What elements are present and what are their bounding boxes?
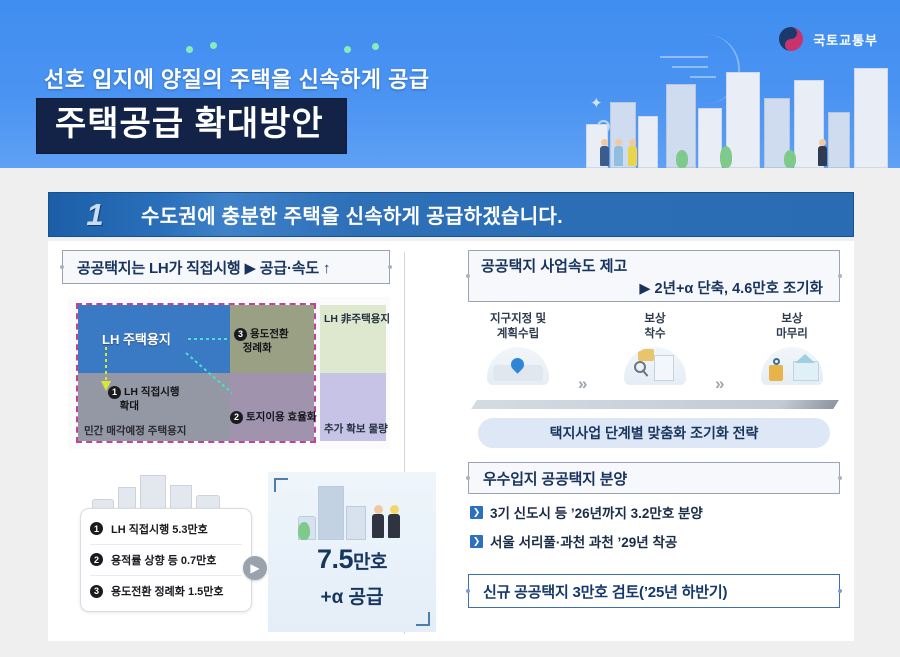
person-figure [600, 139, 609, 166]
step-label: 지구지정 및 계획수립 [470, 312, 566, 342]
right-heading2-text: 우수입지 공공택지 분양 [483, 468, 627, 489]
quadrant-diagram: LH 주택용지 민간 매각예정 주택용지 LH 非주택용지 추가 확보 물량 1… [68, 297, 390, 449]
result-subtext: +α 공급 [268, 582, 436, 609]
result-box: 7.5만호 +α 공급 [268, 472, 436, 632]
list-item: 1 LH 직접시행 5.3만호 [90, 521, 242, 537]
arrow-right-icon: ▶ [243, 556, 267, 580]
step-label: 보상 착수 [607, 312, 703, 342]
person-figure [628, 139, 637, 166]
timeline-base [471, 400, 839, 409]
step-separator-icon: » [578, 374, 587, 394]
result-value: 7.5만호 [268, 544, 436, 575]
right-bullet-list: ❯ 3기 신도시 등 ’26년까지 3.2만호 분양 ❯ 서울 서리풀·과천 과… [470, 502, 850, 560]
result-unit: 만호 [353, 552, 387, 573]
ministry-name: 국토교통부 [813, 30, 878, 49]
list-item: 3 용도전환 정례화 1.5만호 [90, 583, 242, 599]
step-label: 보상 마무리 [744, 312, 840, 342]
chevron-right-icon: ❯ [470, 506, 483, 519]
bullet-number-3: 3 [90, 585, 103, 598]
step-separator-icon: » [715, 374, 724, 394]
page-header: ✦ 선호 입지에 양질의 주택을 신속하게 공급 주택공급 확대방안 국토교통부 [0, 0, 900, 168]
right-heading-box-3: 신규 공공택지 3만호 검토(’25년 하반기) [468, 574, 840, 608]
right-heading-line2: ▶ 2년+α 단축, 4.6만호 조기화 [481, 277, 827, 298]
strategy-text: 택지사업 단계별 맞춤화 조기화 전략 [550, 423, 759, 443]
skyline-illustration [580, 48, 900, 168]
list-item-label: 용적률 상향 등 0.7만호 [111, 552, 216, 568]
right-heading-box: 공공택지 사업속도 제고 ▶ 2년+α 단축, 4.6만호 조기화 [468, 250, 840, 302]
list-item: 2 용적률 상향 등 0.7만호 [90, 552, 242, 568]
map-pin-icon [487, 347, 549, 385]
process-step-3: 보상 마무리 [744, 312, 840, 385]
left-summary-list: 1 LH 직접시행 5.3만호 2 용적률 상향 등 0.7만호 3 용도전환 … [80, 508, 252, 612]
divider [90, 544, 242, 545]
decorative-dots [186, 42, 386, 58]
section-title: 수도권에 충분한 주택을 신속하게 공급하겠습니다. [141, 200, 563, 229]
person-figure [614, 139, 623, 166]
list-item-label: LH 직접시행 5.3만호 [111, 521, 208, 537]
result-number: 7.5 [317, 544, 353, 574]
right-heading-box-2: 우수입지 공공택지 분양 [468, 462, 840, 494]
bullet-number-1: 1 [90, 522, 103, 535]
header-subtitle: 선호 입지에 양질의 주택을 신속하게 공급 [44, 62, 430, 94]
right-heading-line1: 공공택지 사업속도 제고 [481, 255, 827, 276]
process-step-2: 보상 착수 [607, 312, 703, 385]
right-heading3-text: 신규 공공택지 3만호 검토(’25년 하반기) [483, 581, 727, 602]
process-step-1: 지구지정 및 계획수립 [470, 312, 566, 385]
bullet-label: 3기 신도시 등 ’26년까지 3.2만호 분양 [490, 502, 703, 522]
bullet-label: 서울 서리풀·과천 과천 ’29년 착공 [490, 531, 677, 551]
section-number: 1 [49, 199, 141, 230]
page-title: 주택공급 확대방안 [55, 107, 324, 143]
section-header-bar: 1 수도권에 충분한 주택을 신속하게 공급하겠습니다. [48, 192, 854, 237]
flow-arrows [68, 297, 390, 449]
divider [90, 575, 242, 576]
house-keys-icon [761, 347, 823, 385]
infographic-page: ✦ 선호 입지에 양질의 주택을 신속하게 공급 주택공급 확대방안 국토교통부 [0, 0, 900, 657]
person-figure [372, 505, 384, 538]
apartment-illustration [298, 478, 410, 540]
corner-bracket-icon [274, 478, 288, 492]
chevron-right-icon: ❯ [470, 535, 483, 548]
person-figure [818, 139, 827, 166]
bullet-number-2: 2 [90, 553, 103, 566]
left-heading-text: 공공택지는 LH가 직접시행 ▶ 공급·속도 ↑ [77, 257, 330, 278]
bullet-item: ❯ 서울 서리풀·과천 과천 ’29년 착공 [470, 531, 850, 551]
process-steps: 지구지정 및 계획수립 » 보상 착수 » 보상 [470, 312, 840, 410]
city-illustration [92, 473, 222, 513]
strategy-banner: 택지사업 단계별 맞춤화 조기화 전략 [478, 418, 830, 448]
corner-bracket-icon [416, 612, 430, 626]
magnifier-document-icon [624, 347, 686, 385]
left-heading-box: 공공택지는 LH가 직접시행 ▶ 공급·속도 ↑ [62, 250, 390, 284]
person-figure [388, 505, 400, 538]
list-item-label: 용도전환 정례화 1.5만호 [111, 583, 223, 599]
bullet-item: ❯ 3기 신도시 등 ’26년까지 3.2만호 분양 [470, 502, 850, 522]
header-title-banner: 주택공급 확대방안 [36, 98, 347, 154]
